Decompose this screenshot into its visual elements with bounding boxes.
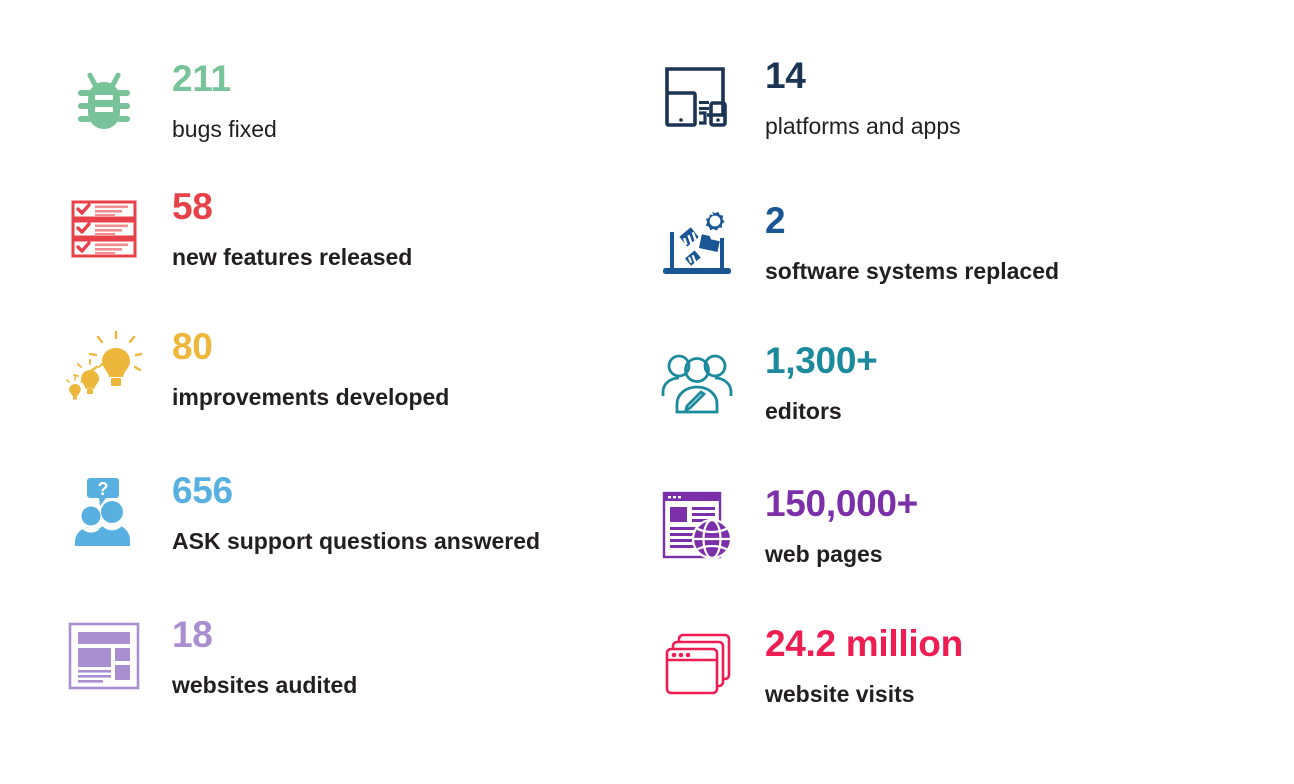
stat-text-block: 24.2 million website visits	[765, 623, 963, 707]
stat-value: 14	[765, 57, 961, 96]
stat-value: 24.2 million	[765, 625, 963, 664]
stat-value: 80	[172, 328, 449, 367]
stat-label: bugs fixed	[172, 116, 277, 142]
stat-label: new features released	[172, 244, 412, 270]
wireframe-page-icon	[62, 614, 146, 698]
people-question-icon: ?	[62, 470, 146, 554]
stat-text-block: 150,000+ web pages	[765, 483, 918, 567]
stat-item-platforms-apps: 14 platforms and apps	[655, 55, 961, 139]
checklist-icon	[62, 186, 146, 270]
stat-value: 211	[172, 60, 277, 99]
stat-item-web-pages: 150,000+ web pages	[655, 483, 918, 567]
stats-infographic: 211 bugs fixed	[0, 0, 1294, 784]
stat-item-improvements: 80 improvements developed	[62, 326, 449, 410]
stat-label: improvements developed	[172, 384, 449, 410]
browser-windows-icon	[655, 623, 739, 707]
stat-value: 18	[172, 616, 357, 655]
bug-icon	[62, 58, 146, 142]
devices-icon	[655, 55, 739, 139]
lightbulbs-icon	[62, 326, 146, 410]
page-globe-icon	[655, 483, 739, 567]
stat-text-block: 18 websites audited	[172, 614, 357, 698]
stat-text-block: 1,300+ editors	[765, 340, 877, 424]
stat-item-bugs-fixed: 211 bugs fixed	[62, 58, 277, 142]
stat-value: 150,000+	[765, 485, 918, 524]
right-stats-column: 14 platforms and apps	[647, 0, 1294, 784]
stat-item-website-visits: 24.2 million website visits	[655, 623, 963, 707]
editors-group-icon	[655, 340, 739, 424]
stat-text-block: 14 platforms and apps	[765, 55, 961, 139]
stat-text-block: 80 improvements developed	[172, 326, 449, 410]
laptop-gear-icon	[655, 200, 739, 284]
stat-label: websites audited	[172, 672, 357, 698]
stat-text-block: 58 new features released	[172, 186, 412, 270]
stat-label: software systems replaced	[765, 258, 1059, 284]
stat-label: website visits	[765, 681, 963, 707]
stat-item-new-features: 58 new features released	[62, 186, 412, 270]
stat-value: 1,300+	[765, 342, 877, 381]
stat-label: ASK support questions answered	[172, 528, 540, 554]
stat-value: 58	[172, 188, 412, 227]
stat-item-ask-support: ? 656 ASK support questions answered	[62, 470, 540, 554]
stat-text-block: 2 software systems replaced	[765, 200, 1059, 284]
stat-text-block: 211 bugs fixed	[172, 58, 277, 142]
stat-item-software-replaced: 2 software systems replaced	[655, 200, 1059, 284]
svg-text:?: ?	[98, 479, 109, 499]
stat-value: 2	[765, 202, 1059, 241]
stat-item-websites-audited: 18 websites audited	[62, 614, 357, 698]
stat-text-block: 656 ASK support questions answered	[172, 470, 540, 554]
stat-label: editors	[765, 398, 877, 424]
stat-label: web pages	[765, 541, 918, 567]
left-stats-column: 211 bugs fixed	[0, 0, 647, 784]
stat-value: 656	[172, 472, 540, 511]
stat-label: platforms and apps	[765, 113, 961, 139]
stat-item-editors: 1,300+ editors	[655, 340, 877, 424]
